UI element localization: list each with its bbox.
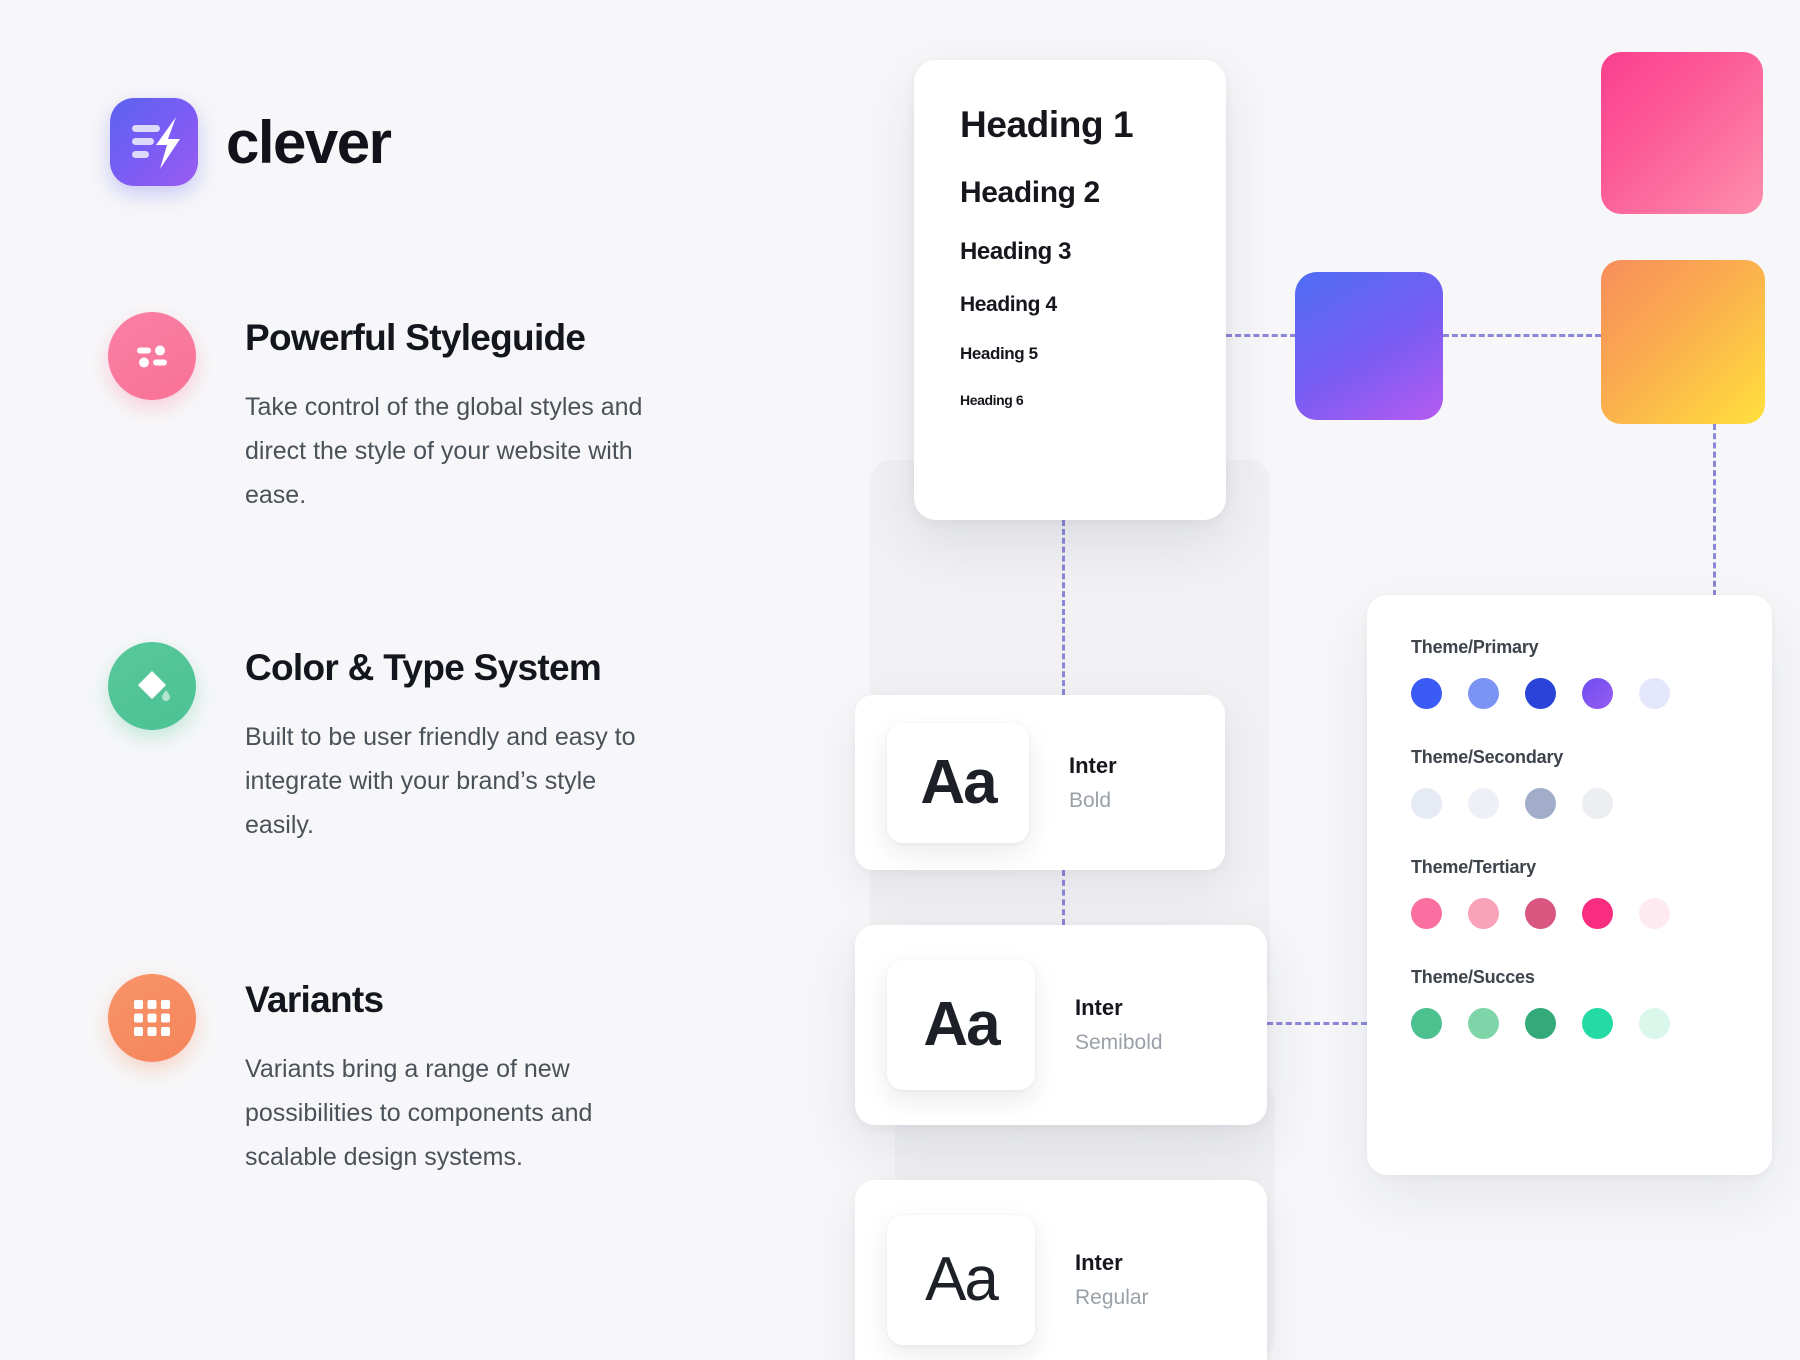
- font-weight-label: Semibold: [1075, 1031, 1163, 1055]
- styleguide-canvas: clever Powerful Styleguide Take control …: [0, 0, 1800, 1360]
- font-card-semibold[interactable]: Aa Inter Semibold: [855, 925, 1267, 1125]
- font-sample-glyph: Aa: [920, 752, 995, 814]
- color-swatch[interactable]: [1468, 678, 1499, 709]
- palette-group-label: Theme/Primary: [1411, 637, 1732, 658]
- color-swatch[interactable]: [1582, 1008, 1613, 1039]
- font-sample-glyph: Aa: [925, 1249, 997, 1311]
- color-swatch[interactable]: [1582, 898, 1613, 929]
- connector-orange-to-palette: [1713, 424, 1716, 596]
- heading-sample-3: Heading 3: [960, 238, 1182, 266]
- palette-swatch-row: [1411, 1008, 1732, 1039]
- paint-bucket-icon: [108, 642, 196, 730]
- color-swatch[interactable]: [1525, 898, 1556, 929]
- feature-description: Built to be user friendly and easy to in…: [245, 715, 670, 847]
- palette-group-secondary: Theme/Secondary: [1411, 747, 1732, 819]
- connector-font1-to-font2: [1062, 870, 1065, 925]
- color-swatch[interactable]: [1468, 1008, 1499, 1039]
- color-swatch[interactable]: [1525, 1008, 1556, 1039]
- heading-sample-6: Heading 6: [960, 392, 1182, 408]
- brand-logo[interactable]: clever: [110, 98, 391, 186]
- feature-powerful-styleguide: Powerful Styleguide Take control of the …: [110, 318, 670, 517]
- heading-sample-4: Heading 4: [960, 293, 1182, 317]
- color-swatch[interactable]: [1468, 788, 1499, 819]
- feature-description: Variants bring a range of new possibilit…: [245, 1047, 670, 1179]
- font-sample-tile: Aa: [887, 723, 1029, 843]
- font-sample-tile: Aa: [887, 960, 1035, 1090]
- font-card-bold[interactable]: Aa Inter Bold: [855, 695, 1225, 870]
- color-swatch[interactable]: [1639, 678, 1670, 709]
- color-swatch[interactable]: [1639, 1008, 1670, 1039]
- heading-sample-1: Heading 1: [960, 104, 1182, 146]
- purple-gradient-square[interactable]: [1295, 272, 1443, 420]
- feature-color-type-system: Color & Type System Built to be user fri…: [110, 648, 670, 847]
- color-swatch[interactable]: [1582, 678, 1613, 709]
- brand-name: clever: [226, 108, 391, 177]
- heading-sample-5: Heading 5: [960, 344, 1182, 364]
- color-swatch[interactable]: [1411, 678, 1442, 709]
- color-swatch[interactable]: [1468, 898, 1499, 929]
- color-swatch[interactable]: [1582, 788, 1613, 819]
- color-palette-panel: Theme/Primary Theme/Secondary Theme/Tert…: [1367, 595, 1772, 1175]
- color-swatch[interactable]: [1525, 788, 1556, 819]
- color-swatch[interactable]: [1411, 1008, 1442, 1039]
- palette-group-tertiary: Theme/Tertiary: [1411, 857, 1732, 929]
- sliders-icon: [108, 312, 196, 400]
- font-weight-label: Regular: [1075, 1286, 1149, 1310]
- pink-gradient-square[interactable]: [1601, 52, 1763, 214]
- bolt-list-logo-icon: [110, 98, 198, 186]
- font-sample-tile: Aa: [887, 1215, 1035, 1345]
- heading-sample-2: Heading 2: [960, 176, 1182, 210]
- connector-headings-to-purple: [1226, 334, 1296, 337]
- palette-swatch-row: [1411, 678, 1732, 709]
- palette-group-success: Theme/Succes: [1411, 967, 1732, 1039]
- font-sample-glyph: Aa: [923, 994, 998, 1056]
- feature-title: Color & Type System: [245, 648, 670, 689]
- font-family-label: Inter: [1069, 753, 1117, 779]
- feature-title: Powerful Styleguide: [245, 318, 670, 359]
- palette-swatch-row: [1411, 788, 1732, 819]
- feature-title: Variants: [245, 980, 670, 1021]
- color-swatch[interactable]: [1525, 678, 1556, 709]
- orange-gradient-square[interactable]: [1601, 260, 1765, 424]
- bolt-icon: [150, 117, 182, 169]
- grid-icon: [108, 974, 196, 1062]
- color-swatch[interactable]: [1639, 898, 1670, 929]
- font-weight-label: Bold: [1069, 789, 1117, 813]
- palette-group-label: Theme/Secondary: [1411, 747, 1732, 768]
- color-swatch[interactable]: [1411, 898, 1442, 929]
- connector-purple-to-orange: [1443, 334, 1601, 337]
- color-swatch[interactable]: [1411, 788, 1442, 819]
- connector-headings-to-font1: [1062, 520, 1065, 695]
- palette-group-label: Theme/Succes: [1411, 967, 1732, 988]
- font-family-label: Inter: [1075, 1250, 1149, 1276]
- headings-card: Heading 1 Heading 2 Heading 3 Heading 4 …: [914, 60, 1226, 520]
- font-family-label: Inter: [1075, 995, 1163, 1021]
- feature-variants: Variants Variants bring a range of new p…: [110, 980, 670, 1179]
- font-card-regular[interactable]: Aa Inter Regular: [855, 1180, 1267, 1360]
- connector-font2-to-palette: [1267, 1022, 1367, 1025]
- palette-group-primary: Theme/Primary: [1411, 637, 1732, 709]
- feature-description: Take control of the global styles and di…: [245, 385, 670, 517]
- palette-group-label: Theme/Tertiary: [1411, 857, 1732, 878]
- palette-swatch-row: [1411, 898, 1732, 929]
